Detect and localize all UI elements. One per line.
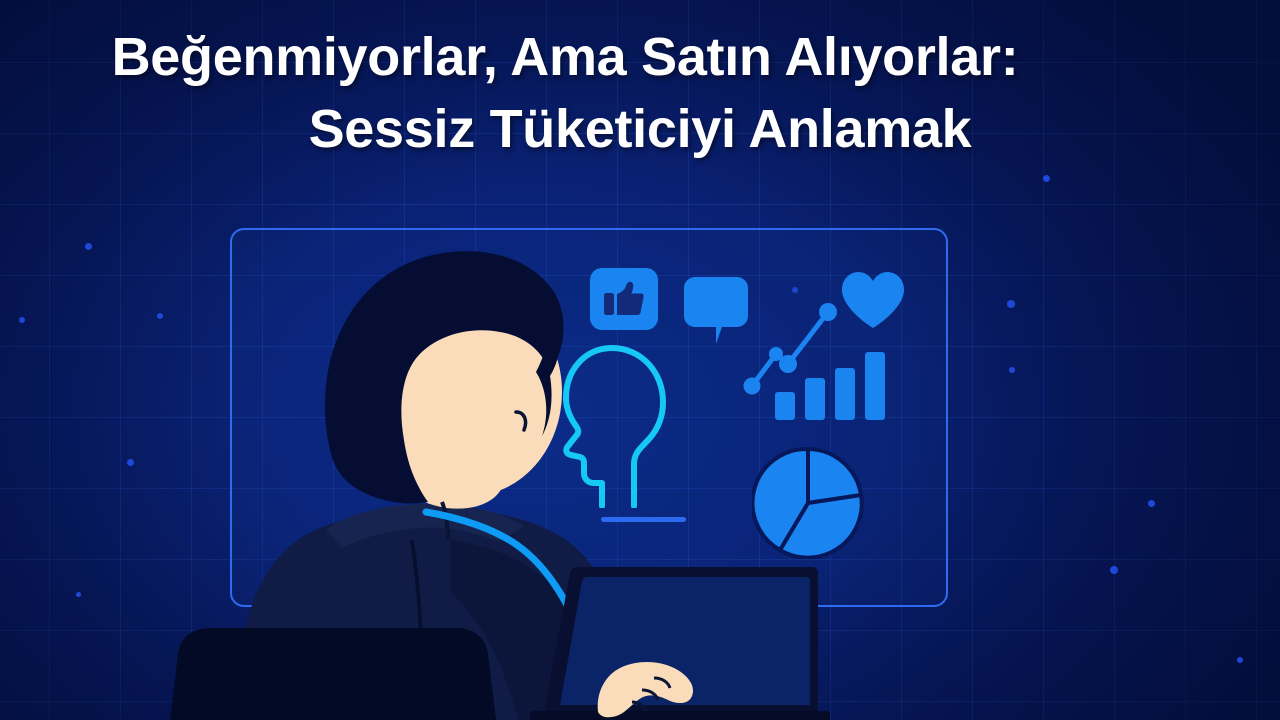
bar-chart-bar-2 (805, 378, 825, 420)
bar-chart-bar-4 (865, 352, 885, 420)
pie-chart-icon (752, 447, 864, 559)
line-chart-icon (742, 302, 840, 398)
bar-chart-bar-3 (835, 368, 855, 420)
hero-banner: Beğenmiyorlar, Ama Satın Alıyorlar: Sess… (0, 0, 1280, 720)
heart-icon (840, 270, 906, 330)
chair-back (170, 628, 496, 720)
office-chair (170, 620, 500, 720)
bar-chart-bar-1 (775, 392, 795, 420)
typing-hand (592, 648, 702, 720)
